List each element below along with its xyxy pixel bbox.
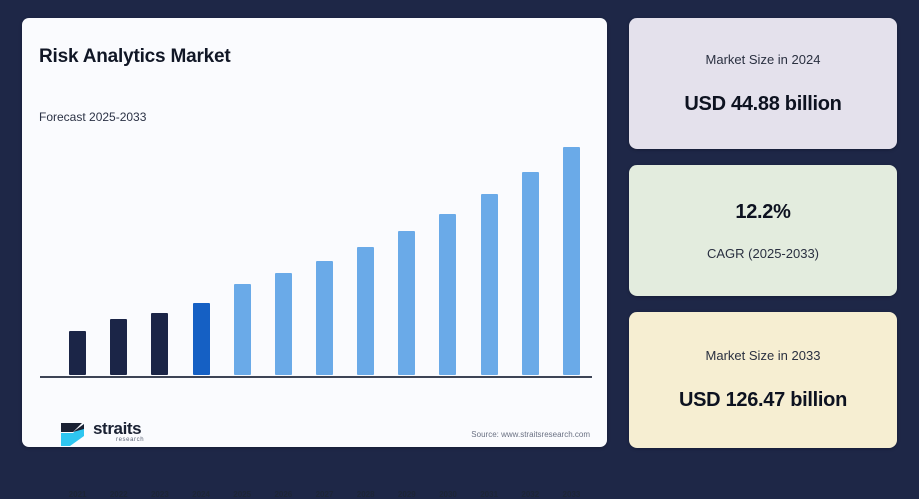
source-attribution: Source: www.straitsresearch.com (471, 430, 590, 439)
stat-card-value: 12.2% (735, 201, 790, 224)
x-label-2027: 2027 (304, 490, 345, 499)
stat-card-label: Market Size in 2024 (706, 52, 821, 67)
bar-slot-2031 (469, 147, 510, 375)
logo-wordmark: straits (93, 419, 141, 439)
stat-card-list: Market Size in 2024USD 44.88 billion12.2… (629, 18, 897, 448)
x-axis-line (40, 376, 592, 378)
stat-card-value: USD 44.88 billion (684, 93, 841, 116)
x-label-2033: 2033 (551, 490, 592, 499)
bar-slot-2021 (57, 147, 98, 375)
bar-slot-2026 (263, 147, 304, 375)
stat-card-label: CAGR (2025-2033) (707, 246, 819, 261)
stat-card-cagr: 12.2%CAGR (2025-2033) (629, 165, 897, 296)
x-label-2025: 2025 (222, 490, 263, 499)
x-label-2028: 2028 (345, 490, 386, 499)
chart-panel: Risk Analytics Market Forecast 2025-2033… (22, 18, 607, 447)
chart-subtitle: Forecast 2025-2033 (39, 110, 146, 124)
bar-slot-2022 (98, 147, 139, 375)
bar-slot-2028 (345, 147, 386, 375)
stat-card-market-size-2033: Market Size in 2033USD 126.47 billion (629, 312, 897, 448)
bar-slot-2029 (386, 147, 427, 375)
x-label-2030: 2030 (427, 490, 468, 499)
x-label-2023: 2023 (139, 490, 180, 499)
straits-research-logo: straits research (60, 418, 180, 452)
bar-2028 (357, 247, 374, 375)
x-label-2024: 2024 (180, 490, 221, 499)
page-title: Risk Analytics Market (39, 46, 231, 68)
bar-slot-2032 (510, 147, 551, 375)
infographic-page: Risk Analytics Market Forecast 2025-2033… (0, 0, 919, 480)
bar-2024 (193, 303, 210, 375)
bar-2025 (234, 284, 251, 375)
x-label-2031: 2031 (469, 490, 510, 499)
bar-chart-plot: 2021202220232024202520262027202820292030… (40, 128, 592, 378)
logo-subtext: research (116, 437, 144, 443)
stat-card-label: Market Size in 2033 (706, 348, 821, 363)
bar-2031 (481, 194, 498, 375)
x-label-2022: 2022 (98, 490, 139, 499)
bar-2026 (275, 273, 292, 375)
bar-series (40, 147, 592, 375)
bar-slot-2033 (551, 147, 592, 375)
bar-2030 (439, 214, 456, 375)
bar-2032 (522, 172, 539, 375)
stat-card-market-size-2024: Market Size in 2024USD 44.88 billion (629, 18, 897, 149)
logo-mark-icon (60, 420, 90, 448)
bar-slot-2030 (427, 147, 468, 375)
bar-2029 (398, 231, 415, 375)
x-label-2032: 2032 (510, 490, 551, 499)
x-label-2026: 2026 (263, 490, 304, 499)
bar-slot-2024 (180, 147, 221, 375)
bar-2022 (110, 319, 127, 375)
stat-card-value: USD 126.47 billion (679, 389, 847, 412)
x-label-2021: 2021 (57, 490, 98, 499)
bar-2027 (316, 261, 333, 375)
bar-2033 (563, 147, 580, 375)
bar-slot-2023 (139, 147, 180, 375)
x-axis-labels: 2021202220232024202520262027202820292030… (40, 490, 592, 499)
x-label-2029: 2029 (386, 490, 427, 499)
bar-2023 (151, 313, 168, 375)
bar-2021 (69, 331, 86, 375)
bar-slot-2027 (304, 147, 345, 375)
bar-slot-2025 (222, 147, 263, 375)
